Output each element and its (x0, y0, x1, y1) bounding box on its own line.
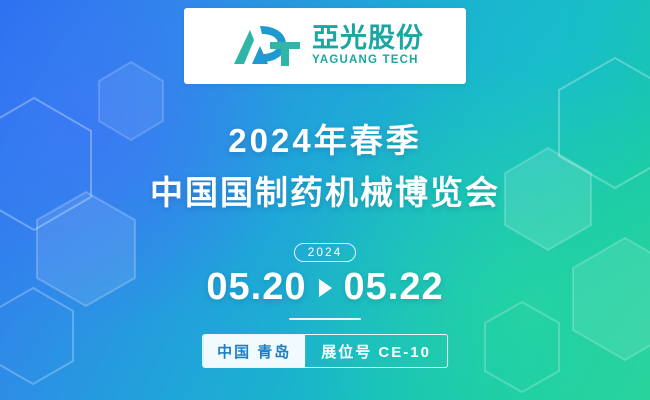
date-underline-divider (289, 318, 361, 320)
date-start: 05.20 (206, 268, 306, 306)
headline-line-2: 中国国制药机械博览会 (0, 172, 650, 213)
year-badge: 2024 (294, 243, 357, 262)
agt-logo-icon (230, 22, 304, 70)
headline-line-1: 2024年春季 (0, 120, 650, 161)
play-arrow-icon (319, 279, 332, 297)
date-range-row: 05.20 05.22 (0, 268, 650, 306)
exhibition-banner: 亞光股份 YAGUANG TECH 2024年春季 中国国制药机械博览会 202… (0, 0, 650, 400)
booth-number-label: 展位号 CE-10 (305, 335, 447, 367)
company-logo-card: 亞光股份 YAGUANG TECH (184, 8, 466, 84)
headline-block: 2024年春季 中国国制药机械博览会 (0, 120, 650, 214)
footer-info-bar: 中国 青岛 展位号 CE-10 (202, 334, 448, 368)
logo-chinese-name: 亞光股份 (312, 25, 424, 52)
date-end: 05.22 (344, 268, 444, 306)
logo-english-name: YAGUANG TECH (312, 55, 424, 67)
hexagon-icon (482, 300, 562, 394)
year-badge-row: 2024 (0, 243, 650, 262)
location-label: 中国 青岛 (203, 335, 305, 367)
